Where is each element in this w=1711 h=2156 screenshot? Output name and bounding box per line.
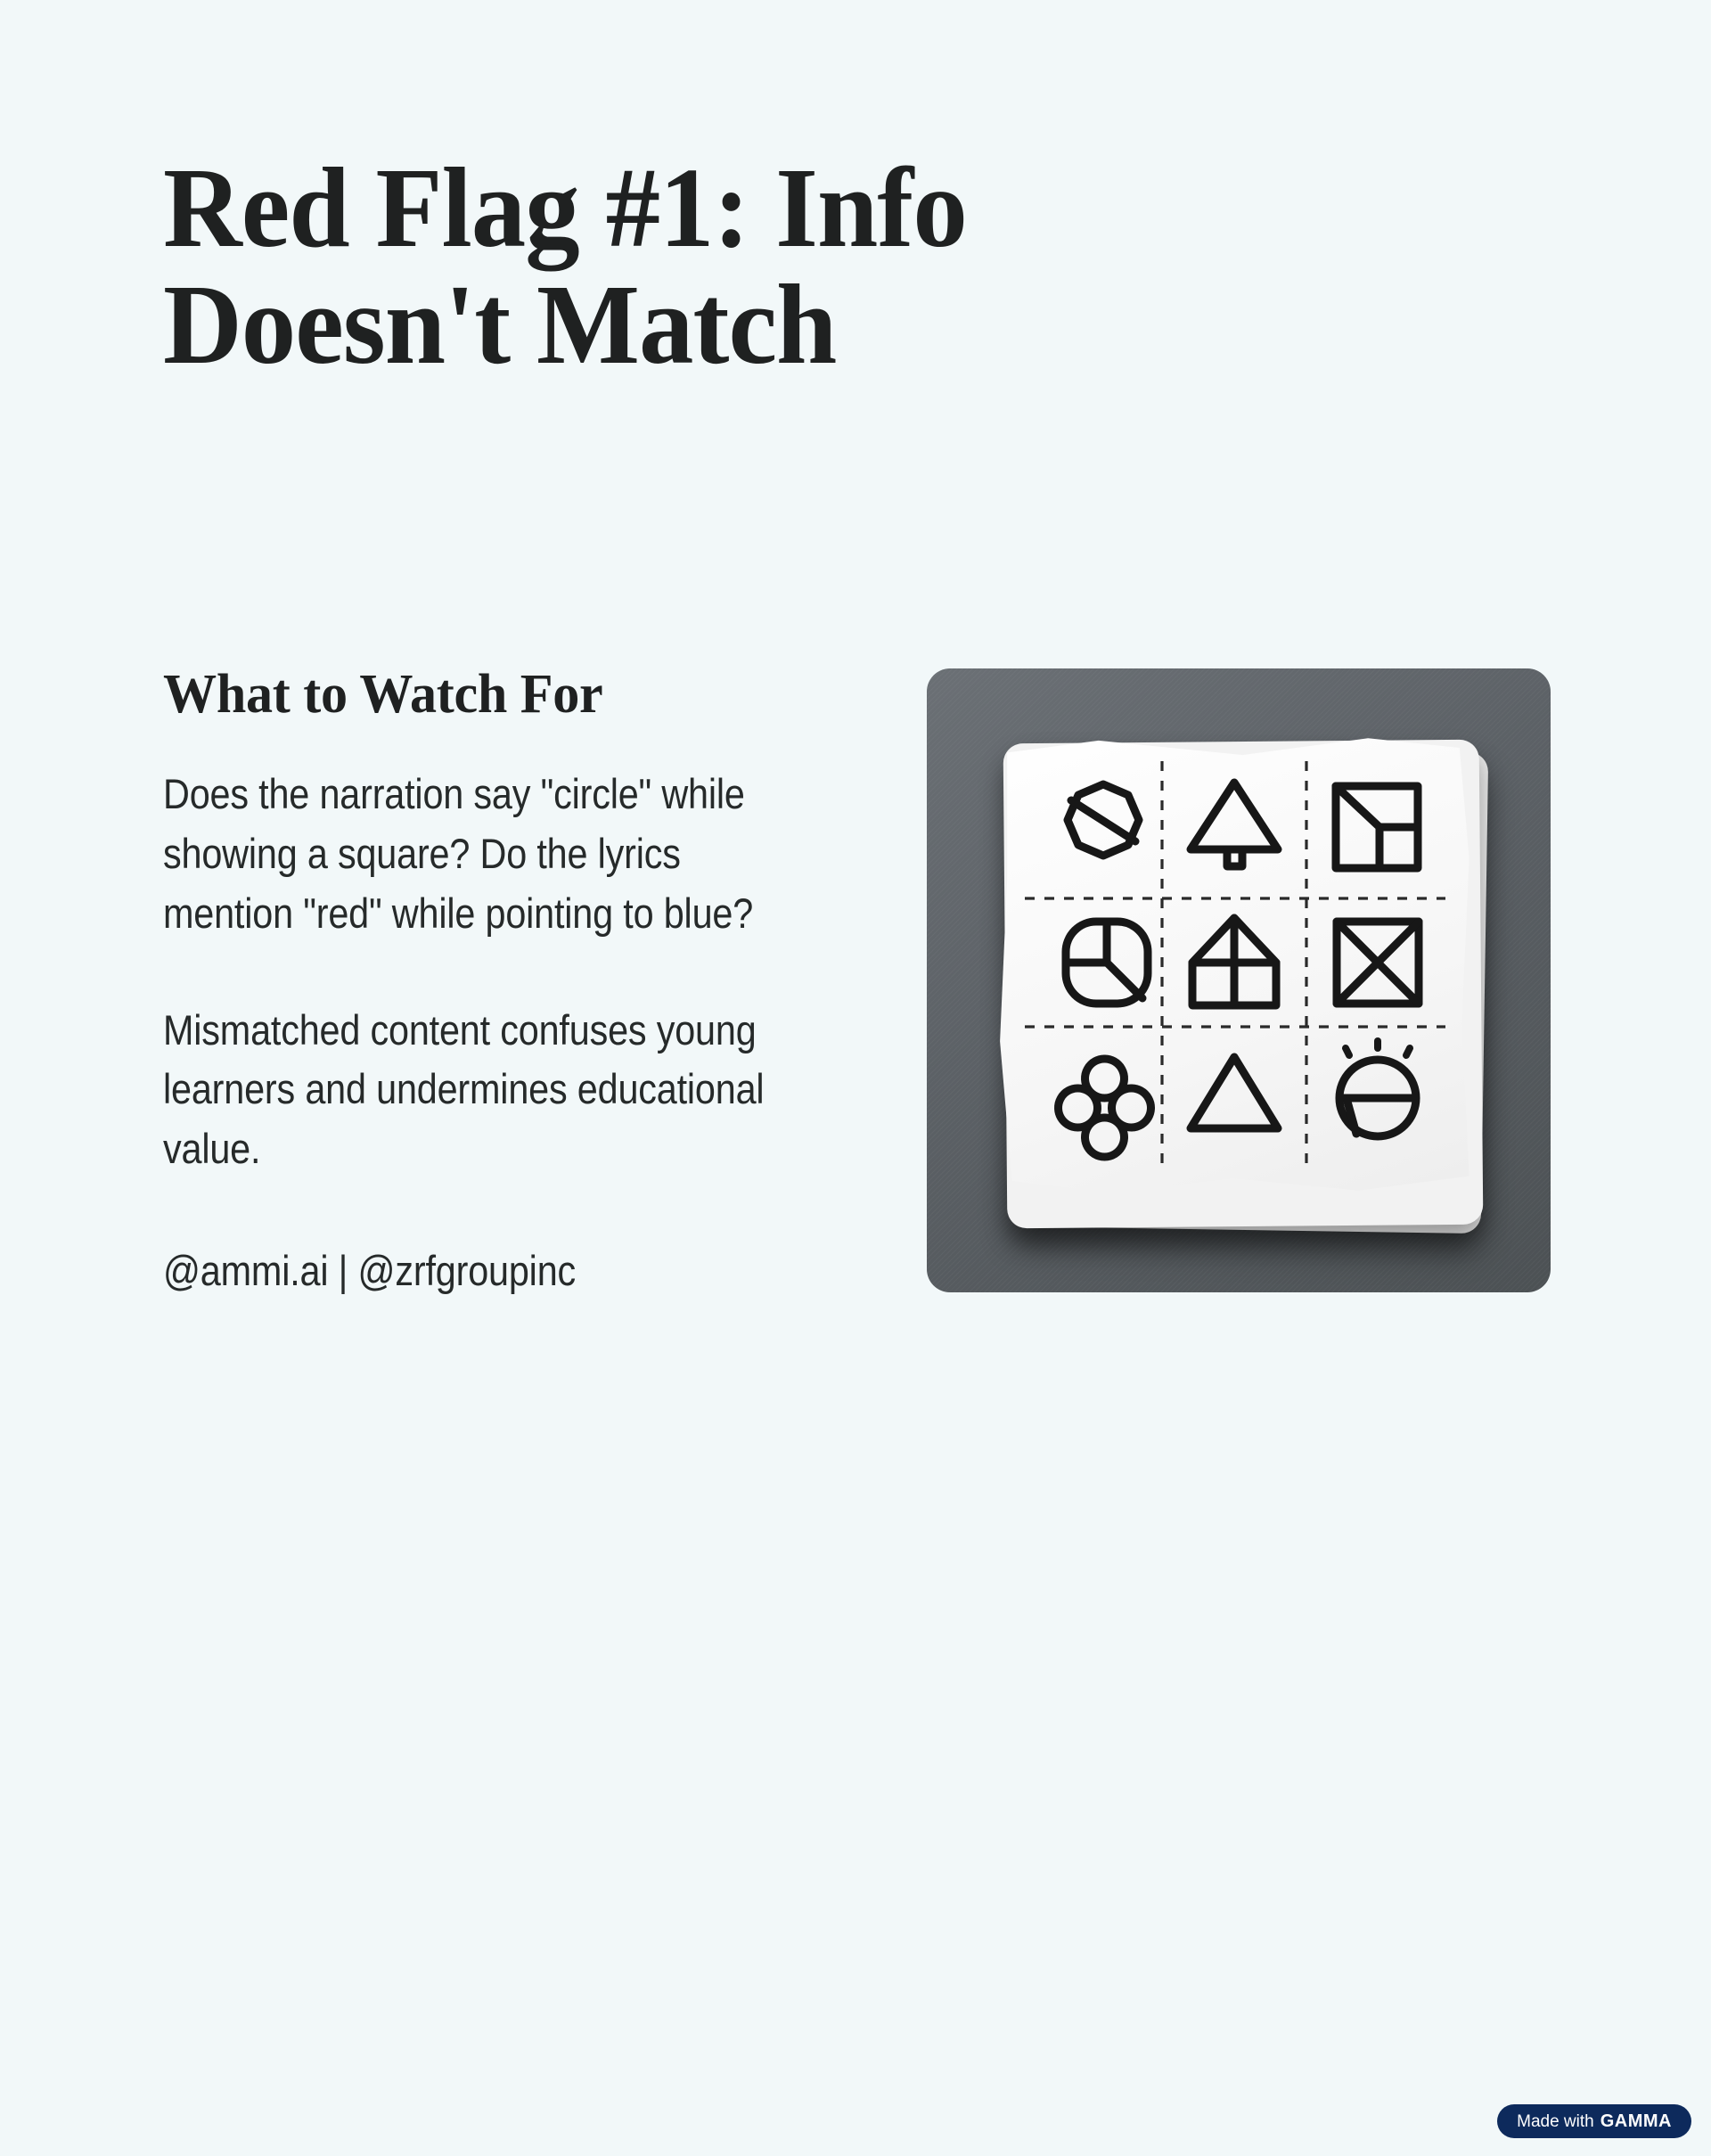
made-with-gamma-badge[interactable]: Made with GAMMA xyxy=(1497,2104,1691,2138)
tree-triangle-icon xyxy=(1191,783,1278,866)
body-paragraph-2: Mismatched content confuses young learne… xyxy=(163,1001,774,1179)
body-paragraph-1: Does the narration say "circle" while sh… xyxy=(163,765,774,943)
four-petal-clover-icon xyxy=(1059,1059,1151,1157)
sun-horizon-icon xyxy=(1339,1041,1416,1136)
octagon-with-slash-icon xyxy=(1068,784,1139,856)
square-split-corner-icon xyxy=(1336,786,1418,868)
slide-canvas: Red Flag #1: Info Doesn't Match What to … xyxy=(0,0,1711,2156)
triangle-icon xyxy=(1191,1057,1278,1128)
house-divided-icon xyxy=(1192,918,1276,1005)
shape-grid xyxy=(993,724,1474,1205)
illustration-panel xyxy=(927,668,1551,1292)
content-column: What to Watch For Does the narration say… xyxy=(163,664,778,1298)
page-title: Red Flag #1: Info Doesn't Match xyxy=(163,150,1327,382)
badge-brand: GAMMA xyxy=(1600,2112,1672,2130)
section-heading: What to Watch For xyxy=(163,664,682,725)
card-stack xyxy=(993,724,1492,1236)
square-with-x-icon xyxy=(1337,922,1419,1004)
social-handles: @ammi.ai | @zrfgroupinc xyxy=(163,1243,774,1298)
rounded-square-pie-icon xyxy=(1066,922,1148,1004)
card-layer-front xyxy=(993,724,1474,1205)
badge-prefix: Made with xyxy=(1517,2113,1594,2130)
